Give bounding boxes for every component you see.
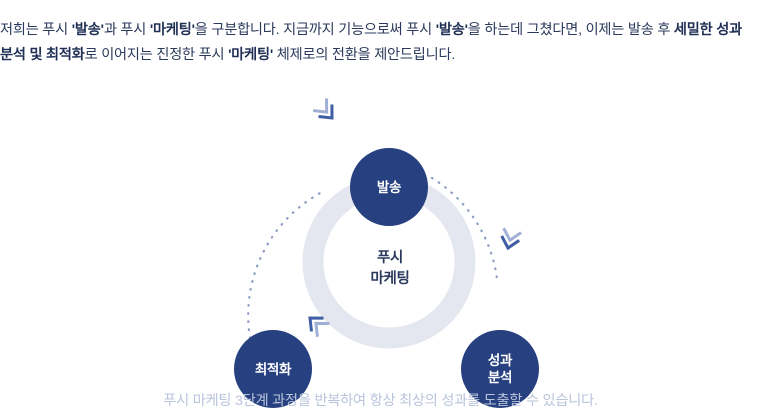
cycle-node-analysis-label-line2: 분석 (488, 369, 512, 386)
cycle-center-label-line2: 마케팅 (330, 269, 450, 290)
cycle-node-send-label: 발송 (377, 179, 401, 196)
intro-emphasis: '마케팅' (228, 47, 273, 63)
cycle-center-label-line1: 푸시 (330, 248, 450, 269)
chevron-arrow-to-analysis (500, 230, 520, 250)
intro-text: 을 하는데 그쳤다면, 이제는 발송 후 (468, 22, 674, 38)
cycle-node-send[interactable]: 발송 (350, 148, 428, 226)
intro-emphasis: '발송' (436, 22, 468, 38)
intro-emphasis: '발송' (72, 22, 104, 38)
intro-text: 을 구분합니다. 지금까지 기능으로써 푸시 (195, 22, 436, 38)
diagram-caption: 푸시 마케팅 3단계 과정을 반복하여 항상 최상의 성과를 도출할 수 있습니… (0, 390, 761, 412)
intro-text: 저희는 푸시 (0, 22, 72, 38)
push-marketing-cycle-diagram: 발송 성과 분석 최적화 푸시 마케팅 (0, 62, 761, 362)
cycle-node-analysis-label: 성과 분석 (488, 352, 512, 386)
intro-text: 과 푸시 (104, 22, 150, 38)
intro-text: 로 이어지는 진정한 푸시 (85, 47, 229, 63)
intro-text: 체제로의 전환을 제안드립니다. (273, 47, 455, 63)
chevron-arrow-to-send (315, 100, 338, 123)
cycle-center-label: 푸시 마케팅 (330, 248, 450, 290)
cycle-node-optimize-label: 최적화 (255, 361, 291, 378)
cycle-node-analysis-label-line1: 성과 (488, 352, 512, 369)
intro-paragraph: 저희는 푸시 '발송'과 푸시 '마케팅'을 구분합니다. 지금까지 기능으로써… (0, 18, 761, 68)
intro-emphasis: '마케팅' (150, 22, 195, 38)
